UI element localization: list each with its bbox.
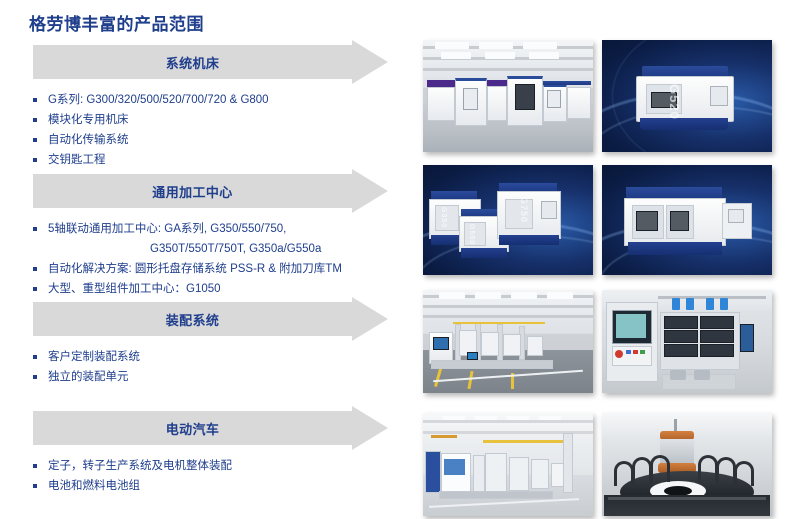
bullet-square-icon [33,375,37,379]
photo-grid: G520 G350 G550 G750 [415,0,791,519]
list-item-text: 电池和燃料电池组 [48,480,140,492]
photo-stator-winding-machine[interactable] [602,413,772,516]
section-banner[interactable]: 装配系统 [33,297,388,341]
bullet-square-icon [33,464,37,468]
list-item-text: 5轴联动通用加工中心: GA系列, G350/550/750, [48,223,286,235]
section-banner[interactable]: 通用加工中心 [33,169,388,213]
list-item-text: 自动化传输系统 [48,134,129,146]
bullet-square-icon [33,158,37,162]
bullet-square-icon [33,287,37,291]
bullet-square-icon [33,98,37,102]
section-banner-label: 系统机床 [33,40,352,84]
list-item-text: 大型、重型组件加工中心：G1050 [48,283,221,295]
section-banner-label: 通用加工中心 [33,169,352,213]
list-item-text: 独立的装配单元 [48,371,129,383]
bullet-square-icon [33,484,37,488]
photo-g520-machine[interactable]: G520 [602,40,772,152]
list-item-text: 模块化专用机床 [48,114,129,126]
list-item: 交钥匙工程 [0,150,415,170]
list-item-continuation: G350T/550T/750T, G350a/G550a [0,239,415,259]
bullet-square-icon [33,267,37,271]
bullet-list: 定子，转子生产系统及电机整体装配 电池和燃料电池组 [0,456,415,496]
list-item-text: 自动化解决方案: 圆形托盘存储系统 PSS-R & 附加刀库TM [48,263,342,275]
bullet-square-icon [33,138,37,142]
machine-model-label: G520 [667,84,682,120]
product-range-sections: 系统机床 G系列: G300/320/500/520/700/720 & G80… [0,0,415,519]
list-item: 自动化传输系统 [0,130,415,150]
list-item-text: G系列: G300/320/500/520/700/720 & G800 [48,94,269,106]
section-banner[interactable]: 系统机床 [33,40,388,84]
section-electric-vehicles: 电动汽车 定子，转子生产系统及电机整体装配 电池和燃料电池组 [0,406,415,496]
photo-production-line-hall[interactable] [423,40,593,152]
list-item: 自动化解决方案: 圆形托盘存储系统 PSS-R & 附加刀库TM [0,259,415,279]
bullet-list: 客户定制装配系统 独立的装配单元 [0,347,415,387]
list-item: 电池和燃料电池组 [0,476,415,496]
photo-g-machine-front[interactable] [602,165,772,275]
list-item: 定子，转子生产系统及电机整体装配 [0,456,415,476]
list-item: 模块化专用机床 [0,110,415,130]
section-banner[interactable]: 电动汽车 [33,406,388,450]
list-item: 5轴联动通用加工中心: GA系列, G350/550/750, [0,219,415,239]
list-item: 大型、重型组件加工中心：G1050 [0,279,415,299]
photo-control-cabinet-cell[interactable] [602,290,772,393]
section-system-machines: 系统机床 G系列: G300/320/500/520/700/720 & G80… [0,40,415,170]
bullet-square-icon [33,227,37,231]
photo-g-series-group[interactable]: G350 G550 G750 [423,165,593,275]
photo-assembly-line[interactable] [423,290,593,393]
section-assembly-systems: 装配系统 客户定制装配系统 独立的装配单元 [0,297,415,387]
list-item-text: 定子，转子生产系统及电机整体装配 [48,460,232,472]
list-item: 独立的装配单元 [0,367,415,387]
section-banner-label: 电动汽车 [33,406,352,450]
bullet-list: G系列: G300/320/500/520/700/720 & G800 模块化… [0,90,415,170]
list-item-text: 客户定制装配系统 [48,351,140,363]
bullet-square-icon [33,118,37,122]
machine-model-label: G750 [519,197,529,223]
section-banner-label: 装配系统 [33,297,352,341]
bullet-square-icon [33,355,37,359]
photo-ev-clean-hall[interactable] [423,413,593,516]
list-item: G系列: G300/320/500/520/700/720 & G800 [0,90,415,110]
section-universal-machining-centers: 通用加工中心 5轴联动通用加工中心: GA系列, G350/550/750, G… [0,169,415,299]
list-item: 客户定制装配系统 [0,347,415,367]
list-item-text: 交钥匙工程 [48,154,106,166]
bullet-list: 5轴联动通用加工中心: GA系列, G350/550/750, G350T/55… [0,219,415,299]
